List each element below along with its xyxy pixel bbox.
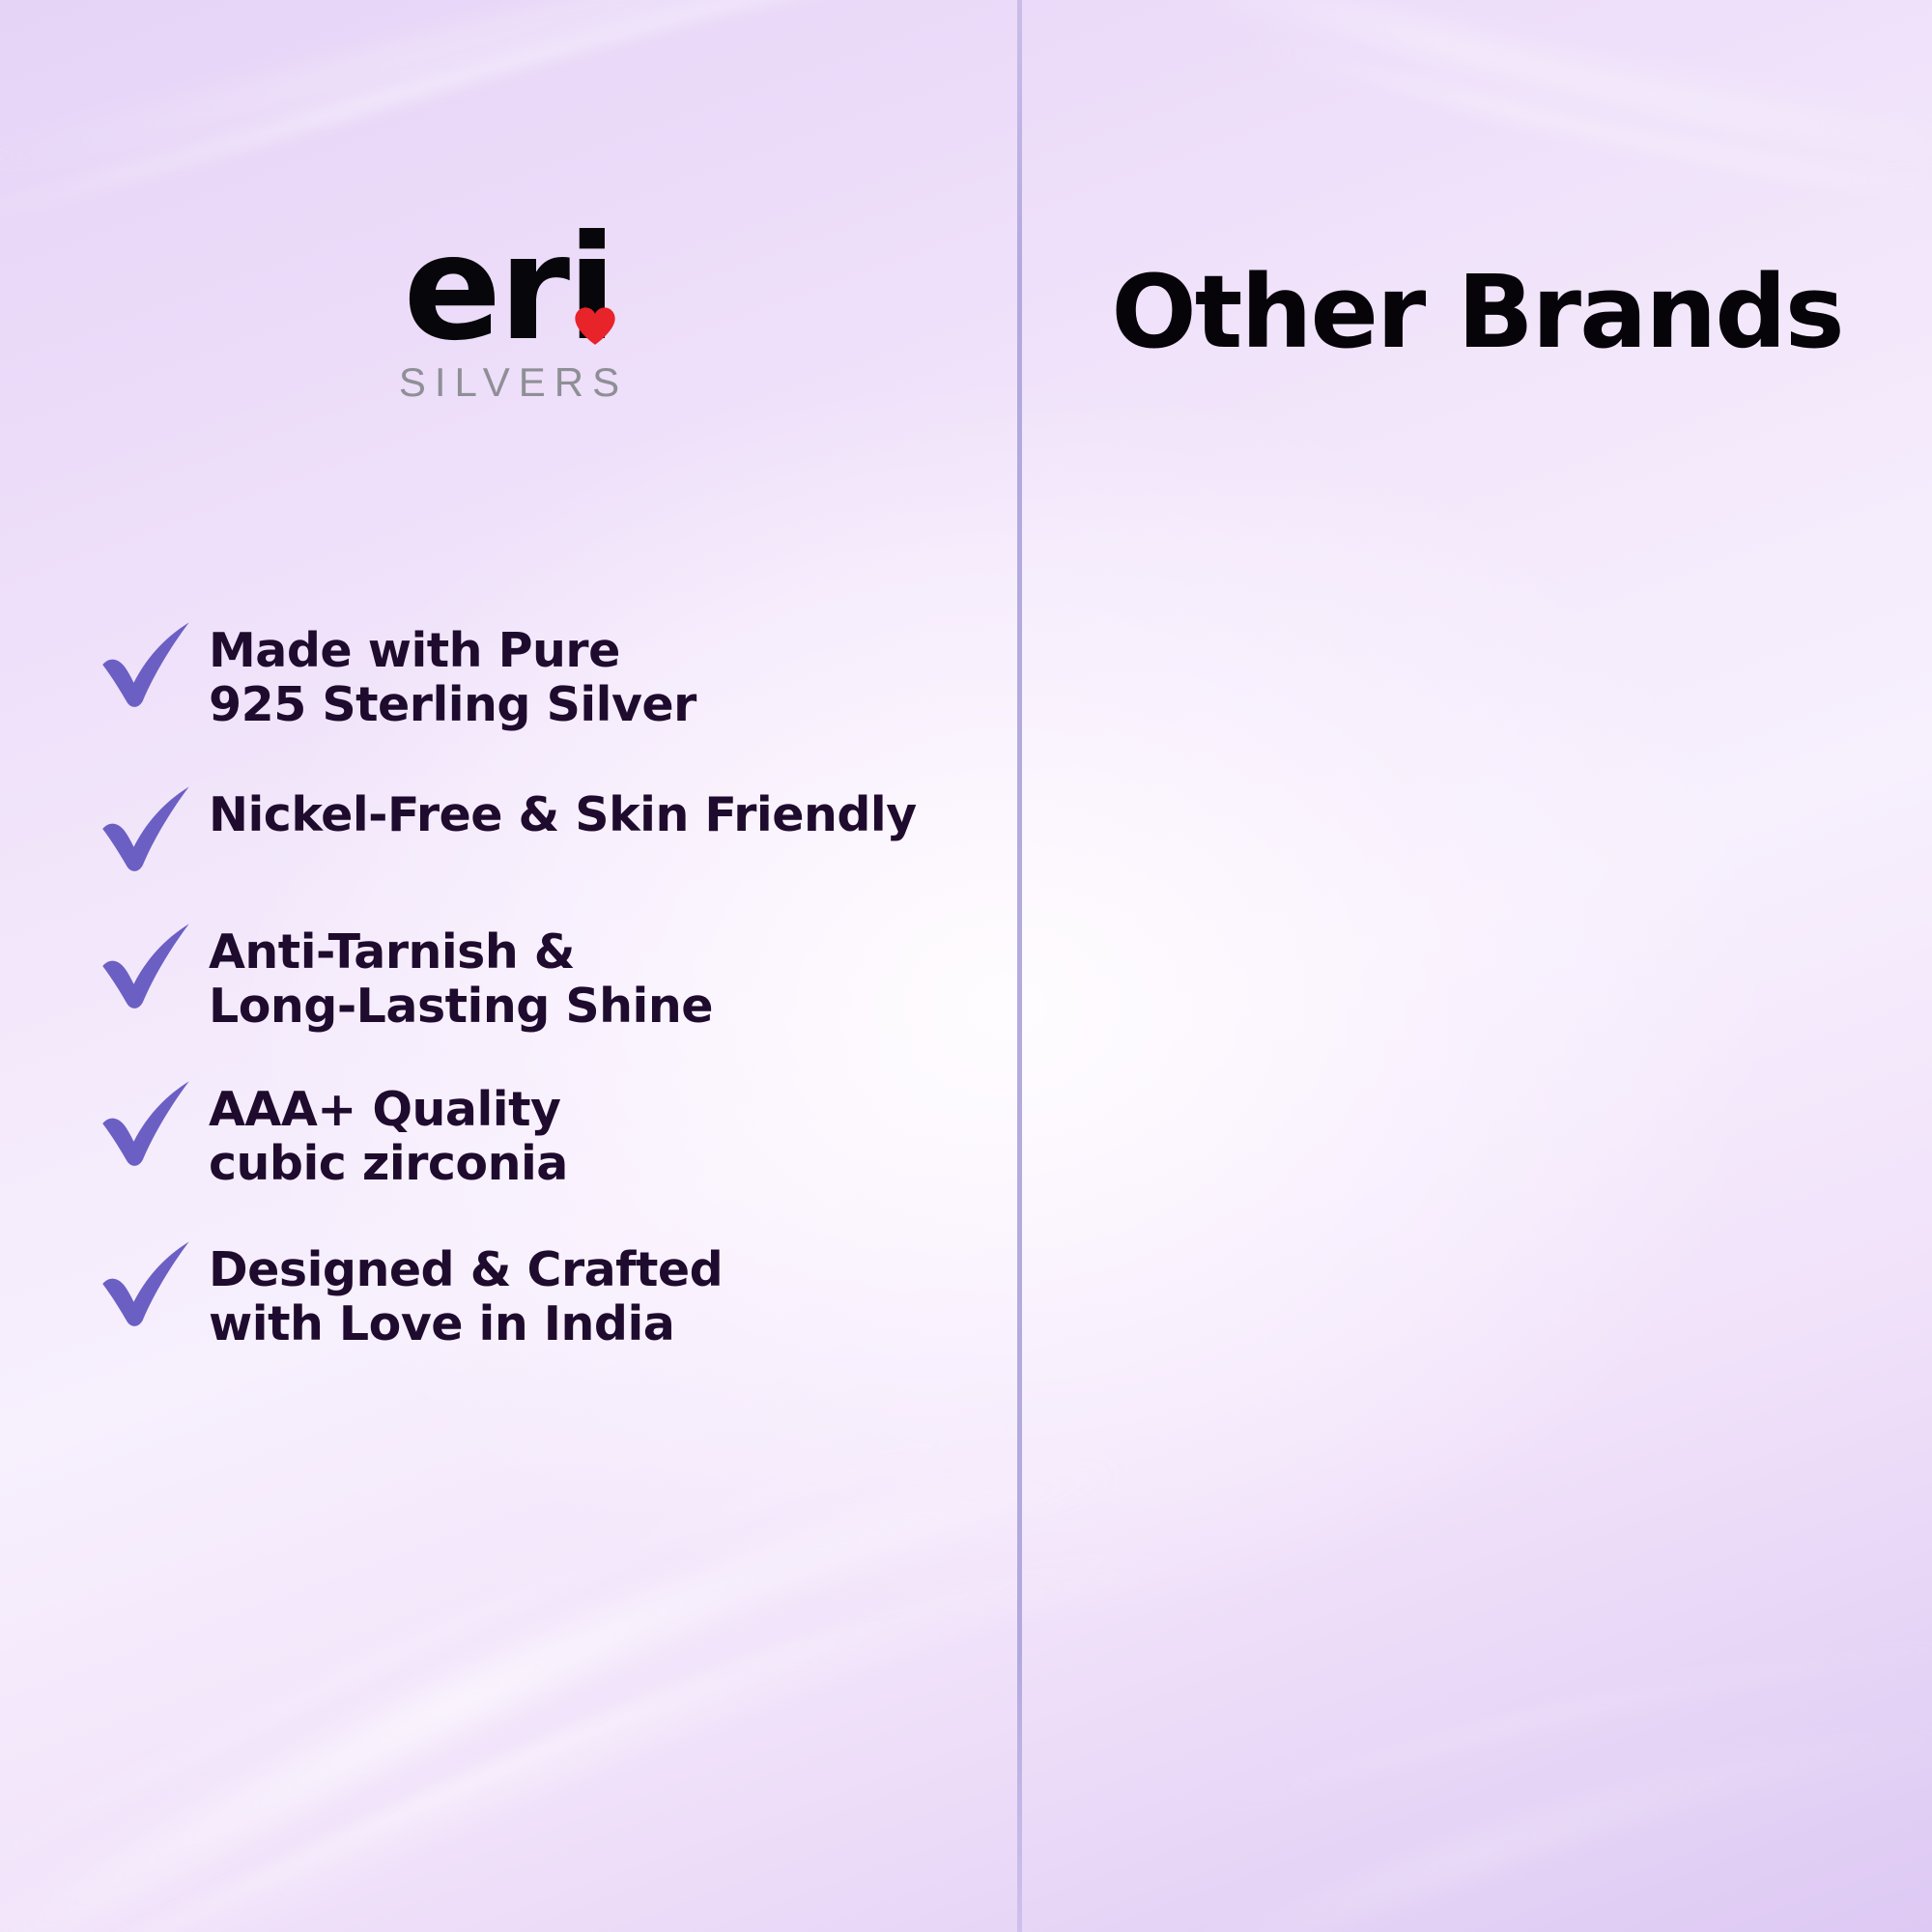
list-item: Anti-Tarnish & Long-Lasting Shine bbox=[97, 920, 995, 1034]
list-item: Designed & Crafted with Love in India bbox=[97, 1237, 995, 1351]
list-item-label: Anti-Tarnish & Long-Lasting Shine bbox=[209, 920, 713, 1034]
list-item: AAA+ Quality cubic zirconia bbox=[97, 1077, 995, 1191]
check-icon bbox=[97, 914, 197, 1014]
list-item: Nickel-Free & Skin Friendly bbox=[97, 782, 995, 877]
check-icon bbox=[97, 1071, 197, 1172]
list-item: Made with Pure 925 Sterling Silver bbox=[97, 618, 995, 732]
competitor-column: Other Brands Made with Cheap Alloy/Brass… bbox=[1022, 0, 1932, 1932]
comparison-infographic: eri SILVERS Made with Pure 925 Sterling … bbox=[0, 0, 1932, 1932]
heart-icon bbox=[574, 230, 616, 269]
brand-logo-wordmark: eri bbox=[403, 222, 613, 355]
list-item-label: Designed & Crafted with Love in India bbox=[209, 1237, 723, 1351]
brand-logo: eri SILVERS bbox=[0, 222, 1017, 406]
brand-column: eri SILVERS Made with Pure 925 Sterling … bbox=[0, 0, 1017, 1932]
check-icon bbox=[97, 1232, 197, 1332]
list-item-label: Nickel-Free & Skin Friendly bbox=[209, 782, 917, 842]
check-icon bbox=[97, 777, 197, 877]
check-icon bbox=[97, 612, 197, 713]
pros-list: Made with Pure 925 Sterling Silver Nicke… bbox=[97, 618, 995, 1351]
page-title: Other Brands bbox=[1022, 253, 1932, 371]
list-item-label: Made with Pure 925 Sterling Silver bbox=[209, 618, 696, 732]
list-item-label: AAA+ Quality cubic zirconia bbox=[209, 1077, 568, 1191]
